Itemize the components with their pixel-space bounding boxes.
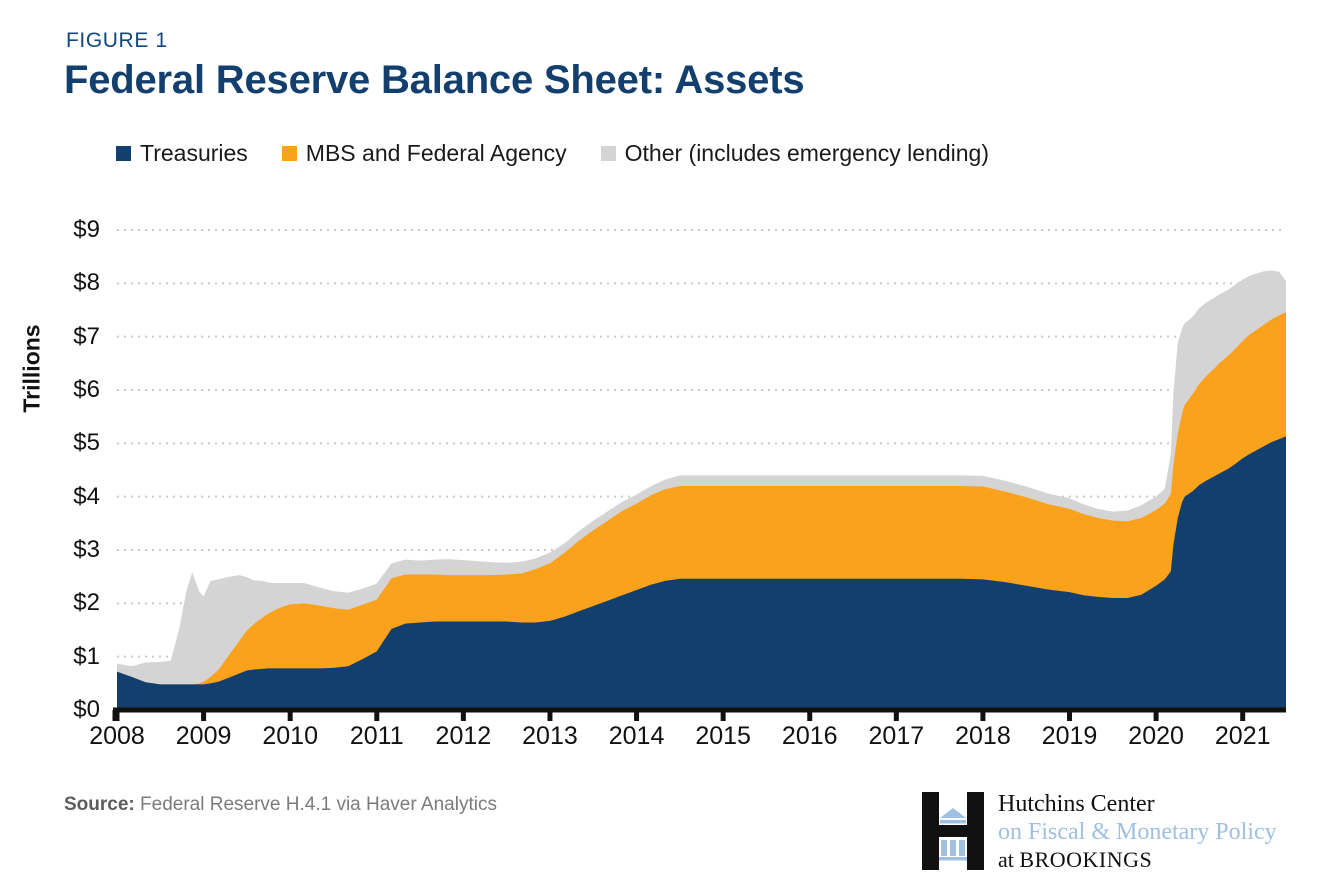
- source-note: Source: Federal Reserve H.4.1 via Haver …: [64, 794, 497, 816]
- stacked-area-plot: [0, 0, 1317, 886]
- hutchins-h-icon: [922, 792, 984, 870]
- brookings-logo: Hutchins Center on Fiscal & Monetary Pol…: [922, 790, 1277, 873]
- logo-line-3: at BROOKINGS: [998, 847, 1277, 873]
- logo-line-2: on Fiscal & Monetary Policy: [998, 818, 1277, 846]
- logo-line-1: Hutchins Center: [998, 790, 1277, 818]
- logo-line-3-prefix: at: [998, 847, 1019, 872]
- chart-area: Trillions $0$1$2$3$4$5$6$7$8$9 200820092…: [0, 0, 1317, 886]
- source-prefix: Source:: [64, 794, 135, 815]
- logo-line-3-name: BROOKINGS: [1019, 847, 1152, 872]
- source-text: Federal Reserve H.4.1 via Haver Analytic…: [140, 794, 497, 815]
